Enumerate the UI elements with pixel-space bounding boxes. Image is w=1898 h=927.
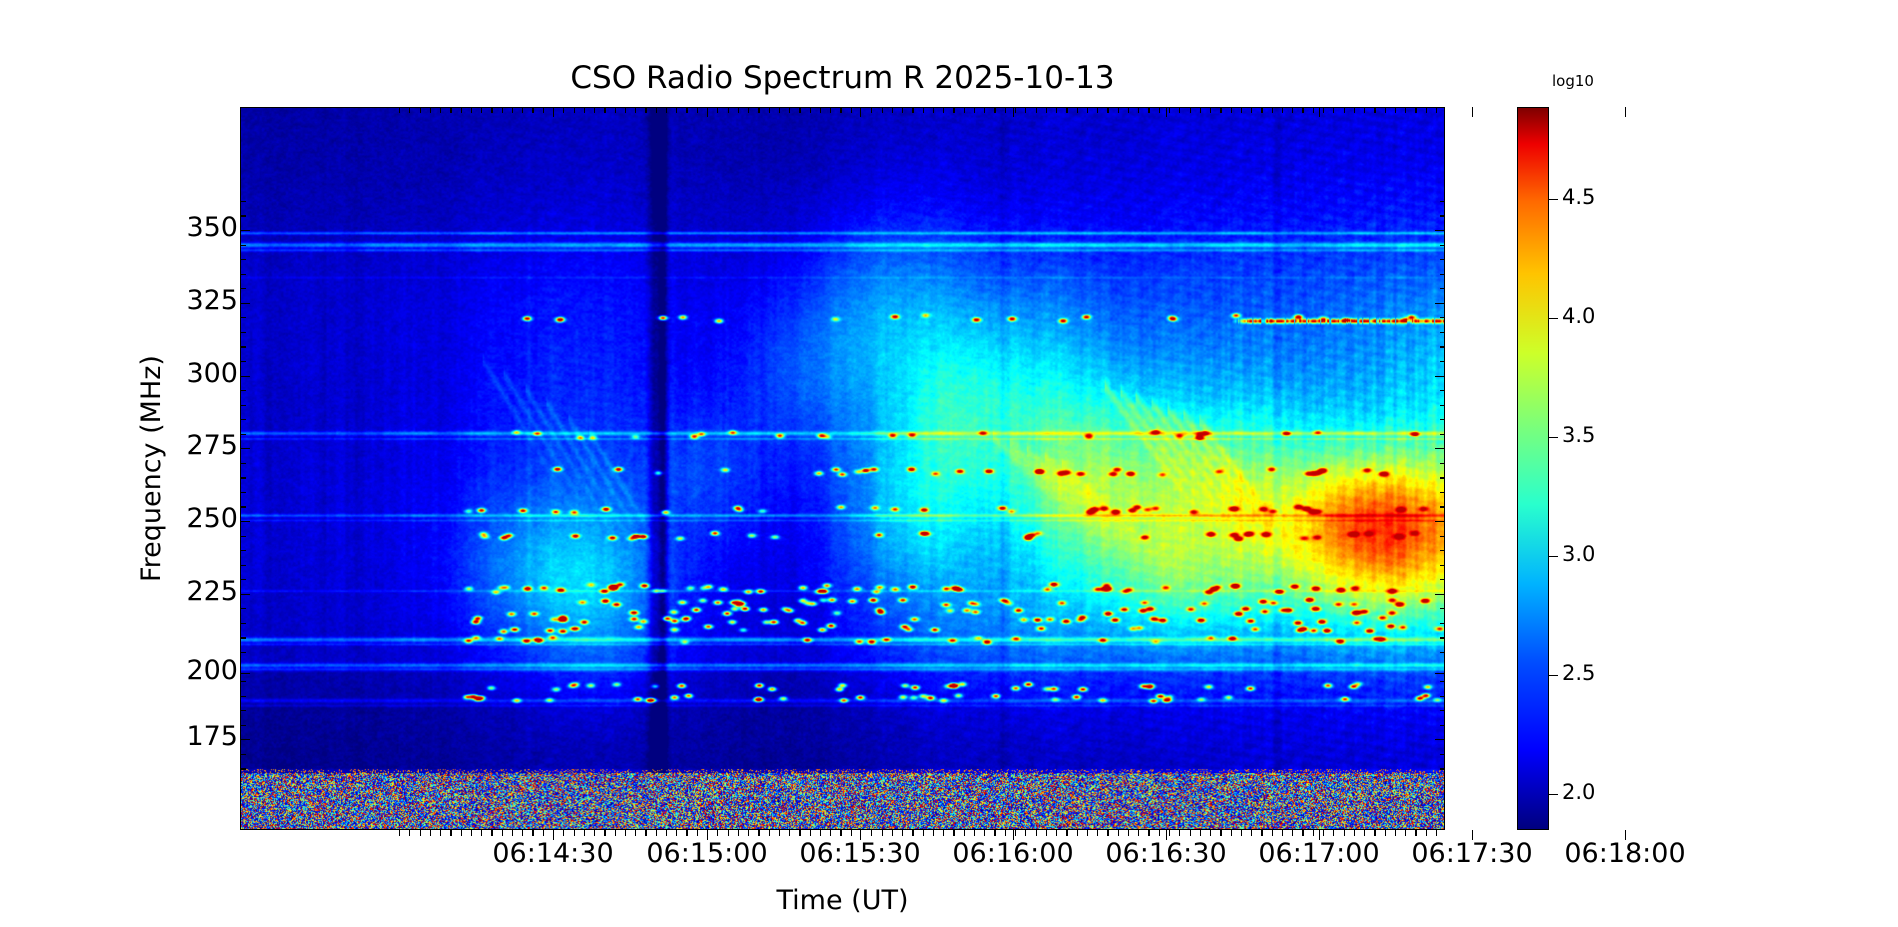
x-minor-tick-mark (943, 830, 944, 836)
x-minor-tick-mark (399, 830, 400, 836)
x-minor-tick-mark (645, 107, 646, 113)
y-minor-tick-mark (1440, 579, 1446, 580)
x-minor-tick-mark (728, 107, 729, 113)
y-minor-tick-mark (240, 361, 246, 362)
x-tick-mark (1166, 830, 1167, 840)
x-minor-tick-mark (1220, 107, 1221, 113)
x-minor-tick-mark (1354, 830, 1355, 836)
x-minor-tick-mark (1220, 830, 1221, 836)
x-minor-tick-mark (584, 107, 585, 113)
x-minor-tick-mark (676, 830, 677, 836)
x-minor-tick-mark (1097, 830, 1098, 836)
x-minor-tick-mark (871, 107, 872, 113)
x-minor-tick-mark (1323, 107, 1324, 113)
x-minor-tick-mark (1087, 830, 1088, 836)
x-minor-tick-mark (1210, 830, 1211, 836)
x-minor-tick-mark (543, 830, 544, 836)
x-minor-tick-mark (1077, 830, 1078, 836)
x-minor-tick-mark (1302, 830, 1303, 836)
x-minor-tick-mark (1200, 830, 1201, 836)
figure-canvas: CSO Radio Spectrum R 2025-10-13 Frequenc… (0, 0, 1898, 927)
x-minor-tick-mark (1436, 107, 1437, 113)
x-minor-tick-mark (615, 830, 616, 836)
x-minor-tick-mark (1385, 830, 1386, 836)
x-minor-tick-mark (953, 107, 954, 113)
y-minor-tick-mark (1440, 405, 1446, 406)
colorbar-tick-mark (1549, 556, 1558, 557)
x-minor-tick-mark (604, 107, 605, 113)
x-minor-tick-mark (748, 830, 749, 836)
y-minor-tick-mark (240, 346, 246, 347)
y-minor-tick-mark (1440, 215, 1446, 216)
x-minor-tick-mark (779, 830, 780, 836)
x-minor-tick-mark (1107, 830, 1108, 836)
x-minor-tick-mark (769, 830, 770, 836)
colorbar-tick-label: 4.0 (1562, 304, 1595, 328)
x-minor-tick-mark (1251, 830, 1252, 836)
y-tick-label: 250 (38, 503, 238, 534)
x-minor-tick-mark (1179, 107, 1180, 113)
x-minor-tick-mark (758, 830, 759, 836)
x-minor-tick-mark (1118, 107, 1119, 113)
y-minor-tick-mark (240, 696, 246, 697)
y-minor-tick-mark (1440, 565, 1446, 566)
x-minor-tick-mark (1159, 107, 1160, 113)
x-minor-tick-mark (1200, 107, 1201, 113)
y-minor-tick-mark (240, 565, 246, 566)
x-tick-mark (1472, 107, 1473, 117)
x-minor-tick-mark (686, 830, 687, 836)
x-minor-tick-mark (933, 107, 934, 113)
y-minor-tick-mark (1440, 477, 1446, 478)
x-minor-tick-mark (625, 830, 626, 836)
x-minor-tick-mark (964, 830, 965, 836)
x-minor-tick-mark (563, 107, 564, 113)
x-tick-mark (1472, 830, 1473, 840)
x-minor-tick-mark (532, 107, 533, 113)
y-minor-tick-mark (240, 652, 246, 653)
y-tick-mark (240, 448, 250, 449)
y-minor-tick-mark (1440, 725, 1446, 726)
x-minor-tick-mark (799, 830, 800, 836)
y-tick-mark (240, 739, 250, 740)
x-minor-tick-mark (1138, 107, 1139, 113)
y-minor-tick-mark (240, 259, 246, 260)
y-minor-tick-mark (240, 288, 246, 289)
x-minor-tick-mark (522, 830, 523, 836)
x-minor-tick-mark (461, 107, 462, 113)
x-minor-tick-mark (666, 107, 667, 113)
y-tick-mark (240, 673, 250, 674)
x-minor-tick-mark (871, 830, 872, 836)
x-minor-tick-mark (1056, 107, 1057, 113)
y-minor-tick-mark (240, 550, 246, 551)
y-tick-mark (240, 521, 250, 522)
x-minor-tick-mark (923, 830, 924, 836)
x-minor-tick-mark (840, 830, 841, 836)
x-tick-mark (553, 830, 554, 840)
y-minor-tick-mark (240, 536, 246, 537)
x-minor-tick-mark (615, 107, 616, 113)
x-minor-tick-mark (604, 830, 605, 836)
x-minor-tick-mark (697, 107, 698, 113)
x-minor-tick-mark (409, 830, 410, 836)
x-minor-tick-mark (656, 830, 657, 836)
x-minor-tick-mark (1272, 830, 1273, 836)
x-minor-tick-mark (1261, 107, 1262, 113)
x-minor-tick-mark (892, 107, 893, 113)
x-tick-mark (1319, 830, 1320, 840)
x-minor-tick-mark (399, 107, 400, 113)
x-tick-mark (553, 107, 554, 117)
x-minor-tick-mark (1128, 107, 1129, 113)
spectrogram-axes (240, 107, 1445, 830)
y-minor-tick-mark (240, 215, 246, 216)
y-tick-mark (1435, 230, 1445, 231)
x-minor-tick-mark (1118, 830, 1119, 836)
x-minor-tick-mark (697, 830, 698, 836)
colorbar-tick-label: 2.5 (1562, 661, 1595, 685)
y-minor-tick-mark (240, 681, 246, 682)
x-minor-tick-mark (440, 830, 441, 836)
x-minor-tick-mark (594, 107, 595, 113)
x-minor-tick-mark (1036, 830, 1037, 836)
x-minor-tick-mark (1374, 107, 1375, 113)
x-minor-tick-mark (810, 830, 811, 836)
x-tick-mark (1625, 830, 1626, 840)
x-minor-tick-mark (830, 830, 831, 836)
x-minor-tick-mark (440, 107, 441, 113)
y-minor-tick-mark (240, 623, 246, 624)
x-minor-tick-mark (420, 107, 421, 113)
x-minor-tick-mark (430, 107, 431, 113)
x-minor-tick-mark (666, 830, 667, 836)
y-minor-tick-mark (1440, 710, 1446, 711)
colorbar-tick-label: 2.0 (1562, 780, 1595, 804)
x-tick-mark (1625, 107, 1626, 117)
colorbar-tick-mark (1549, 675, 1558, 676)
x-minor-tick-mark (1107, 107, 1108, 113)
x-minor-tick-mark (635, 830, 636, 836)
y-minor-tick-mark (1440, 652, 1446, 653)
x-minor-tick-mark (1415, 107, 1416, 113)
x-minor-tick-mark (748, 107, 749, 113)
y-minor-tick-mark (240, 317, 246, 318)
x-minor-tick-mark (1282, 830, 1283, 836)
x-minor-tick-mark (789, 830, 790, 836)
y-tick-label: 350 (38, 212, 238, 243)
x-tick-mark (860, 107, 861, 117)
y-minor-tick-mark (1440, 492, 1446, 493)
x-minor-tick-mark (1364, 830, 1365, 836)
y-tick-mark (240, 376, 250, 377)
x-minor-tick-mark (1436, 830, 1437, 836)
y-tick-mark (1435, 521, 1445, 522)
y-tick-label: 300 (38, 358, 238, 389)
x-minor-tick-mark (594, 830, 595, 836)
colorbar-tick-mark (1549, 318, 1558, 319)
x-minor-tick-mark (789, 107, 790, 113)
x-tick-mark (1166, 107, 1167, 117)
y-minor-tick-mark (240, 201, 246, 202)
x-minor-tick-mark (563, 830, 564, 836)
x-minor-tick-mark (1405, 830, 1406, 836)
colorbar-tick-label: 4.5 (1562, 185, 1595, 209)
y-minor-tick-mark (240, 754, 246, 755)
x-minor-tick-mark (1077, 107, 1078, 113)
y-minor-tick-mark (1440, 637, 1446, 638)
y-tick-mark (1435, 594, 1445, 595)
y-minor-tick-mark (1440, 419, 1446, 420)
y-minor-tick-mark (240, 477, 246, 478)
y-tick-label: 225 (38, 576, 238, 607)
x-minor-tick-mark (728, 830, 729, 836)
x-minor-tick-mark (882, 107, 883, 113)
x-minor-tick-mark (1179, 830, 1180, 836)
x-minor-tick-mark (491, 107, 492, 113)
x-minor-tick-mark (430, 830, 431, 836)
y-minor-tick-mark (1440, 390, 1446, 391)
y-minor-tick-mark (240, 637, 246, 638)
colorbar-tick-mark (1549, 437, 1558, 438)
x-minor-tick-mark (409, 107, 410, 113)
x-minor-tick-mark (1415, 830, 1416, 836)
x-minor-tick-mark (512, 107, 513, 113)
x-minor-tick-mark (1313, 830, 1314, 836)
y-minor-tick-mark (240, 405, 246, 406)
x-minor-tick-mark (779, 107, 780, 113)
x-tick-label: 06:18:00 (1495, 838, 1755, 869)
x-minor-tick-mark (1210, 107, 1211, 113)
y-minor-tick-mark (240, 492, 246, 493)
x-minor-tick-mark (984, 107, 985, 113)
x-minor-tick-mark (461, 830, 462, 836)
y-tick-mark (1435, 673, 1445, 674)
x-minor-tick-mark (820, 830, 821, 836)
x-minor-tick-mark (1148, 830, 1149, 836)
y-minor-tick-mark (240, 579, 246, 580)
x-minor-tick-mark (717, 830, 718, 836)
y-tick-label: 200 (38, 655, 238, 686)
x-minor-tick-mark (481, 107, 482, 113)
x-minor-tick-mark (1159, 830, 1160, 836)
x-minor-tick-mark (974, 830, 975, 836)
x-minor-tick-mark (902, 830, 903, 836)
y-minor-tick-mark (1440, 768, 1446, 769)
x-minor-tick-mark (471, 830, 472, 836)
x-minor-tick-mark (450, 830, 451, 836)
x-minor-tick-mark (1282, 107, 1283, 113)
x-minor-tick-mark (491, 830, 492, 836)
x-minor-tick-mark (943, 107, 944, 113)
x-minor-tick-mark (512, 830, 513, 836)
colorbar-tick-label: 3.0 (1562, 542, 1595, 566)
x-minor-tick-mark (974, 107, 975, 113)
x-minor-tick-mark (471, 107, 472, 113)
x-minor-tick-mark (1333, 107, 1334, 113)
x-minor-tick-mark (738, 107, 739, 113)
x-minor-tick-mark (1354, 107, 1355, 113)
x-minor-tick-mark (502, 830, 503, 836)
y-tick-label: 175 (38, 721, 238, 752)
x-minor-tick-mark (1251, 107, 1252, 113)
x-minor-tick-mark (1025, 107, 1026, 113)
x-minor-tick-mark (1066, 107, 1067, 113)
y-minor-tick-mark (240, 274, 246, 275)
x-minor-tick-mark (625, 107, 626, 113)
x-minor-tick-mark (851, 830, 852, 836)
x-minor-tick-mark (502, 107, 503, 113)
x-minor-tick-mark (1005, 830, 1006, 836)
x-minor-tick-mark (1190, 830, 1191, 836)
x-minor-tick-mark (1323, 830, 1324, 836)
x-minor-tick-mark (1426, 830, 1427, 836)
y-minor-tick-mark (240, 390, 246, 391)
x-minor-tick-mark (984, 830, 985, 836)
y-minor-tick-mark (1440, 623, 1446, 624)
x-minor-tick-mark (543, 107, 544, 113)
x-minor-tick-mark (1272, 107, 1273, 113)
x-minor-tick-mark (810, 107, 811, 113)
y-minor-tick-mark (1440, 550, 1446, 551)
colorbar-title: log10 (1552, 72, 1594, 90)
x-minor-tick-mark (420, 830, 421, 836)
x-minor-tick-mark (1302, 107, 1303, 113)
x-minor-tick-mark (1313, 107, 1314, 113)
x-minor-tick-mark (1385, 107, 1386, 113)
x-minor-tick-mark (1015, 830, 1016, 836)
y-tick-mark (1435, 376, 1445, 377)
colorbar-tick-mark (1549, 199, 1558, 200)
y-minor-tick-mark (1440, 463, 1446, 464)
x-tick-mark (707, 107, 708, 117)
x-minor-tick-mark (994, 830, 995, 836)
x-minor-tick-mark (882, 830, 883, 836)
y-minor-tick-mark (1440, 506, 1446, 507)
y-tick-mark (1435, 448, 1445, 449)
y-minor-tick-mark (1440, 245, 1446, 246)
x-minor-tick-mark (964, 107, 965, 113)
y-minor-tick-mark (1440, 434, 1446, 435)
x-minor-tick-mark (1395, 107, 1396, 113)
y-minor-tick-mark (1440, 696, 1446, 697)
x-minor-tick-mark (820, 107, 821, 113)
x-minor-tick-mark (830, 107, 831, 113)
x-minor-tick-mark (1025, 830, 1026, 836)
y-minor-tick-mark (1440, 608, 1446, 609)
y-minor-tick-mark (1440, 681, 1446, 682)
x-minor-tick-mark (933, 830, 934, 836)
x-minor-tick-mark (1333, 830, 1334, 836)
y-minor-tick-mark (1440, 317, 1446, 318)
x-minor-tick-mark (1231, 830, 1232, 836)
x-minor-tick-mark (902, 107, 903, 113)
y-minor-tick-mark (1440, 201, 1446, 202)
y-minor-tick-mark (1440, 361, 1446, 362)
x-minor-tick-mark (1169, 830, 1170, 836)
x-minor-tick-mark (1344, 107, 1345, 113)
x-minor-tick-mark (635, 107, 636, 113)
x-minor-tick-mark (758, 107, 759, 113)
x-minor-tick-mark (1426, 107, 1427, 113)
x-minor-tick-mark (522, 107, 523, 113)
x-minor-tick-mark (686, 107, 687, 113)
y-minor-tick-mark (1440, 288, 1446, 289)
x-minor-tick-mark (1364, 107, 1365, 113)
x-minor-tick-mark (1344, 830, 1345, 836)
x-minor-tick-mark (851, 107, 852, 113)
x-minor-tick-mark (923, 107, 924, 113)
x-minor-tick-mark (1036, 107, 1037, 113)
y-minor-tick-mark (240, 506, 246, 507)
y-tick-mark (240, 230, 250, 231)
colorbar (1517, 107, 1549, 830)
x-minor-tick-mark (1046, 830, 1047, 836)
y-minor-tick-mark (240, 434, 246, 435)
y-tick-mark (240, 303, 250, 304)
colorbar-tick-label: 3.5 (1562, 423, 1595, 447)
y-minor-tick-mark (1440, 274, 1446, 275)
x-minor-tick-mark (738, 830, 739, 836)
x-minor-tick-mark (912, 830, 913, 836)
y-minor-tick-mark (240, 332, 246, 333)
x-tick-mark (1319, 107, 1320, 117)
x-tick-mark (860, 830, 861, 840)
x-minor-tick-mark (1087, 107, 1088, 113)
y-tick-mark (240, 594, 250, 595)
y-minor-tick-mark (240, 463, 246, 464)
y-minor-tick-mark (240, 710, 246, 711)
x-minor-tick-mark (584, 830, 585, 836)
y-minor-tick-mark (240, 608, 246, 609)
x-minor-tick-mark (574, 830, 575, 836)
x-minor-tick-mark (1405, 107, 1406, 113)
y-tick-label: 275 (38, 430, 238, 461)
x-minor-tick-mark (481, 830, 482, 836)
x-minor-tick-mark (1292, 830, 1293, 836)
x-minor-tick-mark (799, 107, 800, 113)
x-minor-tick-mark (717, 107, 718, 113)
y-minor-tick-mark (1440, 259, 1446, 260)
x-axis-label: Time (UT) (240, 885, 1445, 916)
x-minor-tick-mark (912, 107, 913, 113)
x-minor-tick-mark (645, 830, 646, 836)
y-tick-mark (1435, 739, 1445, 740)
x-minor-tick-mark (1148, 107, 1149, 113)
x-minor-tick-mark (1241, 107, 1242, 113)
x-minor-tick-mark (1292, 107, 1293, 113)
spectrogram-heatmap (241, 108, 1444, 829)
x-minor-tick-mark (892, 830, 893, 836)
x-minor-tick-mark (840, 107, 841, 113)
y-minor-tick-mark (240, 419, 246, 420)
x-minor-tick-mark (1241, 830, 1242, 836)
y-minor-tick-mark (1440, 346, 1446, 347)
x-minor-tick-mark (1138, 830, 1139, 836)
colorbar-tick-mark (1549, 794, 1558, 795)
x-minor-tick-mark (1128, 830, 1129, 836)
chart-title: CSO Radio Spectrum R 2025-10-13 (240, 60, 1445, 96)
x-minor-tick-mark (1169, 107, 1170, 113)
x-minor-tick-mark (1395, 830, 1396, 836)
x-minor-tick-mark (1015, 107, 1016, 113)
x-minor-tick-mark (769, 107, 770, 113)
x-minor-tick-mark (953, 830, 954, 836)
y-minor-tick-mark (1440, 536, 1446, 537)
x-minor-tick-mark (1261, 830, 1262, 836)
x-minor-tick-mark (574, 107, 575, 113)
x-minor-tick-mark (1097, 107, 1098, 113)
